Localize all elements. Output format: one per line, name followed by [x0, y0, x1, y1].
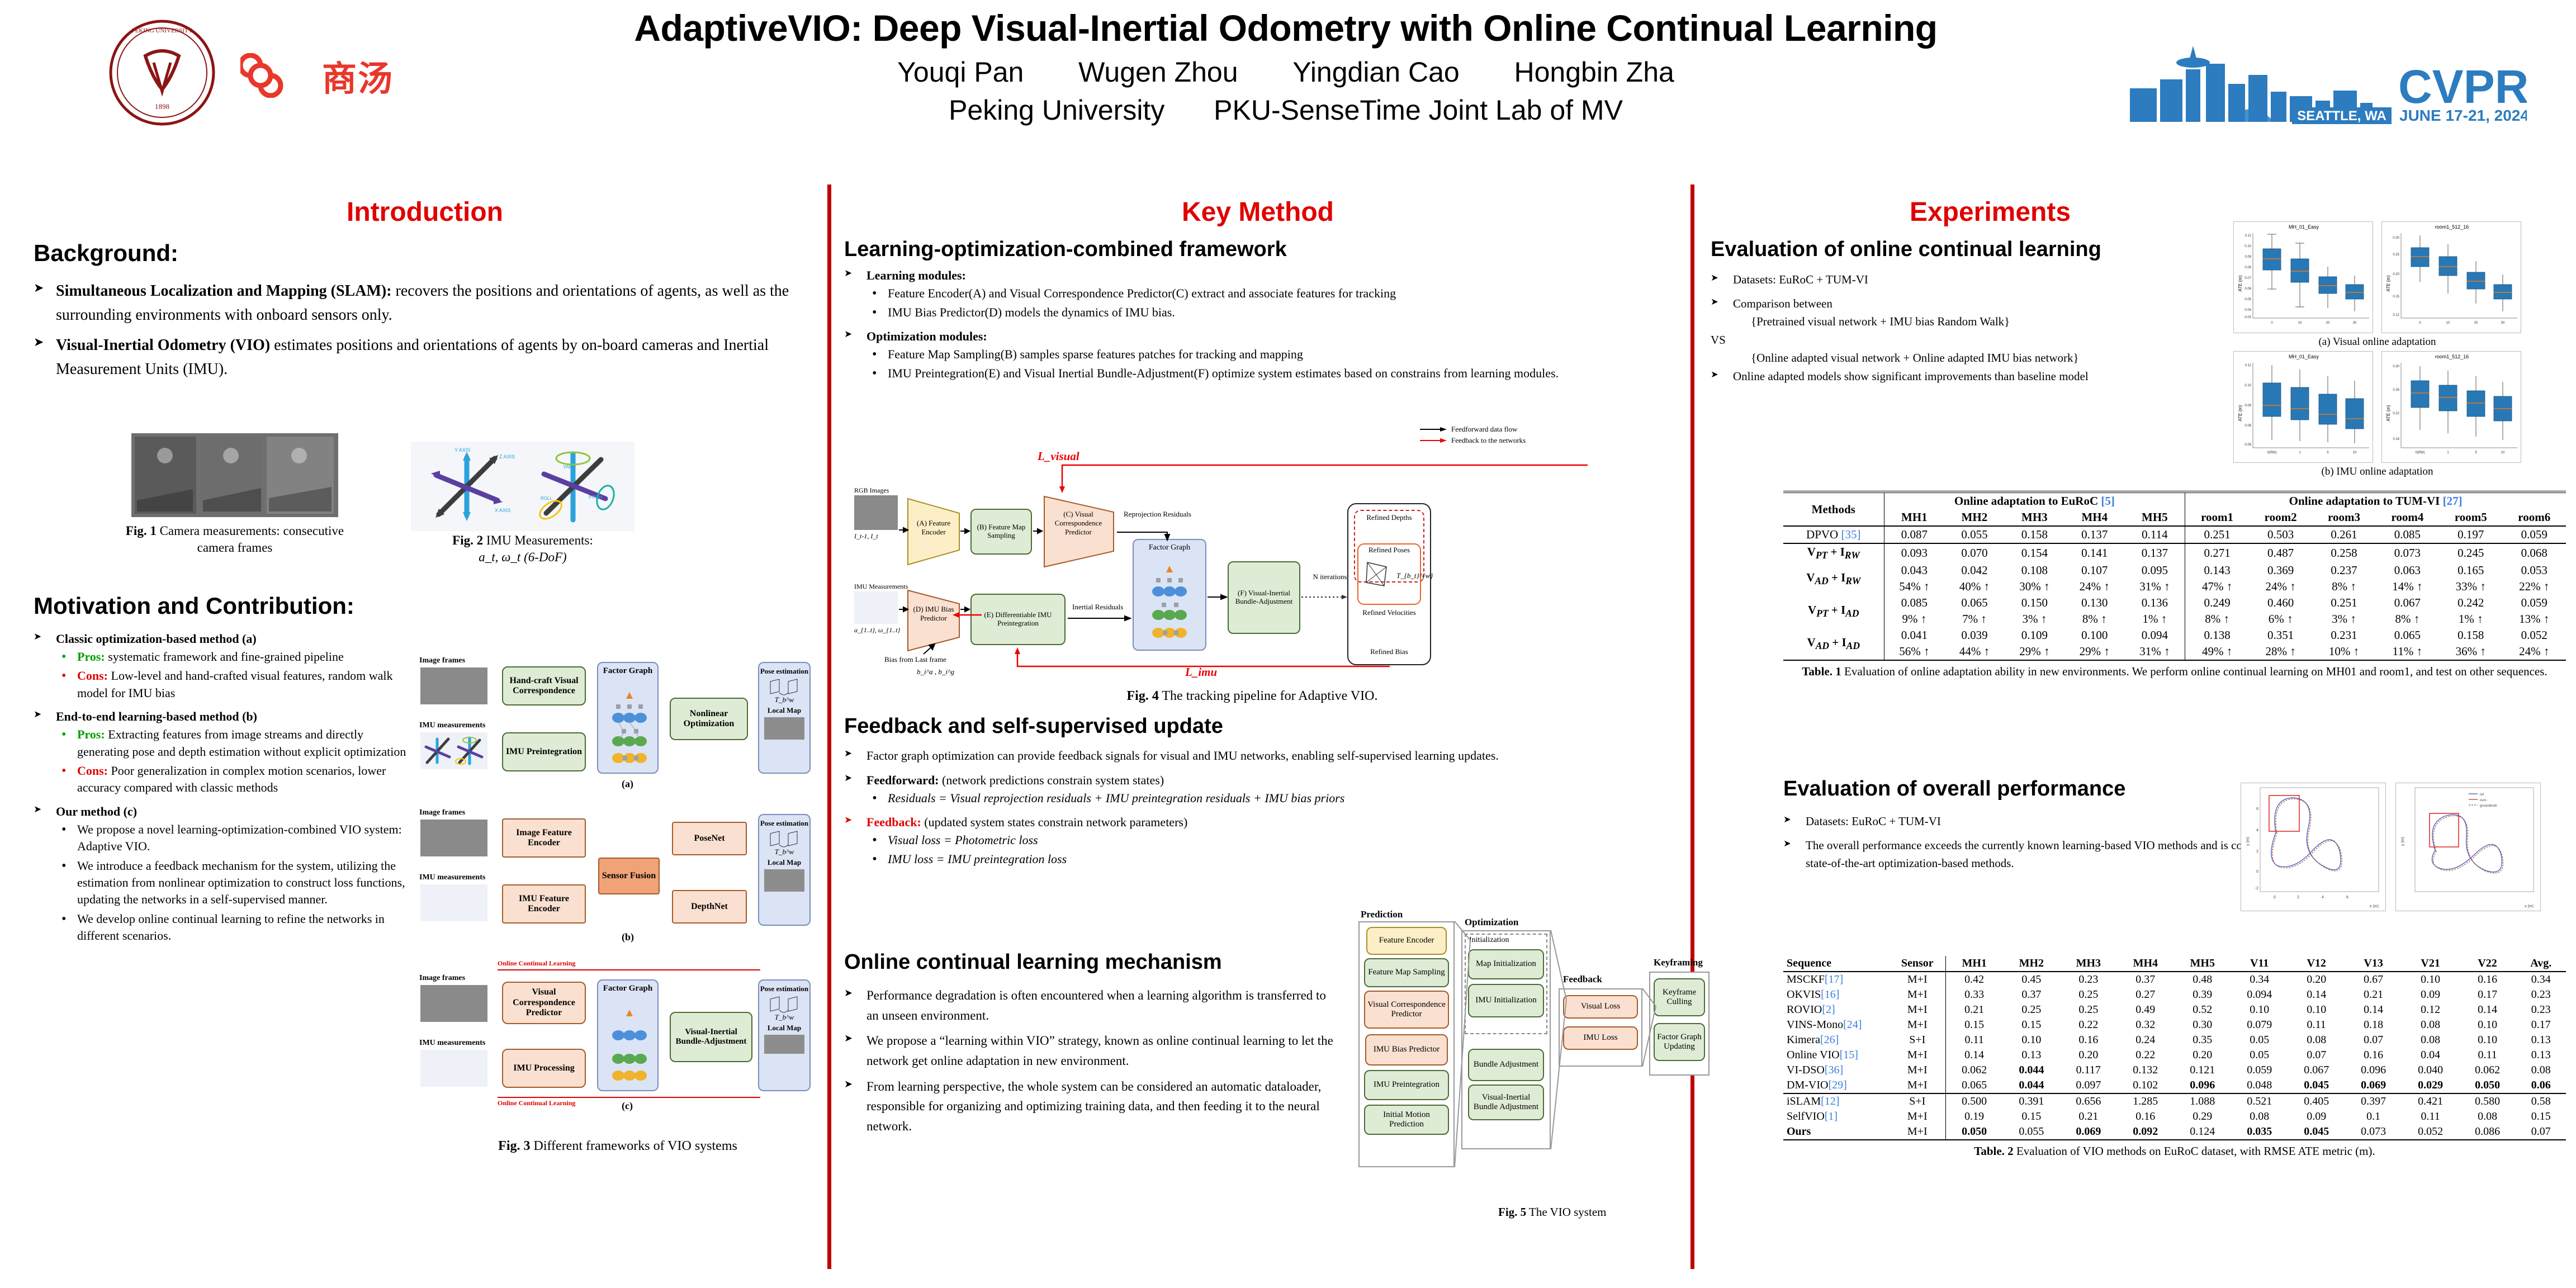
cell: 0.150 — [2005, 595, 2064, 611]
list-item: We introduce a feedback mechanism for th… — [56, 858, 414, 908]
background-heading: Background: — [34, 240, 816, 267]
boxplot-caption-b: (b) IMU online adaptation — [2233, 465, 2521, 479]
table2-row-name: Online VIO[15] — [1783, 1048, 1890, 1063]
table2-sensor: M+I — [1890, 972, 1945, 987]
table2-col-6: MH5 — [2174, 956, 2231, 972]
svg-text:ATE (m): ATE (m) — [2238, 405, 2243, 422]
cell: 0.039 — [1944, 627, 2004, 643]
table-row: VI-DSO[36]M+I0.0620.0440.1170.1320.1210.… — [1783, 1063, 2566, 1078]
t1r2-a: V — [1806, 571, 1815, 584]
cell: 14% ↑ — [2376, 579, 2439, 595]
svg-text:6: 6 — [2346, 896, 2348, 899]
list-item: Datasets: EuRoC + TUM-VI — [1711, 271, 2214, 289]
exp-s1-4: {Online adapted visual network + Online … — [1751, 351, 2079, 364]
author-list: Youqi Pan Wugen Zhou Yingdian Cao Hongbi… — [503, 56, 2068, 88]
cell: 0.503 — [2249, 526, 2312, 543]
method-sublist: Feature Map Sampling(B) samples sparse f… — [866, 346, 1671, 382]
table2-sensor: M+I — [1890, 1063, 1945, 1078]
fig4-caption: Fig. 4 The tracking pipeline for Adaptiv… — [1017, 688, 1487, 705]
cell: 0.10 — [2402, 972, 2459, 987]
table1-col-4: MH5 — [2125, 509, 2185, 526]
t1-row4-label: VPT + IAD — [1783, 595, 1884, 627]
table-row: VINS-Mono[24]M+I0.150.150.220.320.300.07… — [1783, 1017, 2566, 1033]
table-row: DM-VIO[29]M+I0.0650.0440.0970.1020.0960.… — [1783, 1078, 2566, 1093]
cell: 0.500 — [1945, 1093, 2003, 1109]
exp-s1-list: Datasets: EuRoC + TUM-VI Comparison betw… — [1711, 271, 2214, 385]
cell: 0.58 — [2516, 1093, 2566, 1109]
table2-sensor: M+I — [1890, 1002, 1945, 1017]
method-sublist: Visual loss = Photometric loss IMU loss … — [866, 832, 1666, 868]
mot-0-head: Classic optimization-based method (a) — [56, 632, 257, 646]
table2-row-name: Ours — [1783, 1124, 1890, 1140]
cell: 0.14 — [2345, 1002, 2402, 1017]
cell: 0.23 — [2060, 972, 2117, 987]
cell: 0.33 — [1945, 987, 2003, 1002]
fig5-connectors — [1358, 917, 1727, 1180]
cell: 0.137 — [2064, 526, 2124, 543]
cell: 29% ↑ — [2005, 643, 2064, 660]
cell: 0.062 — [2459, 1063, 2516, 1078]
exp-s1-5: Online adapted models show significant i… — [1733, 370, 2089, 383]
cell: 0.37 — [2003, 987, 2060, 1002]
cell: 0.18 — [2345, 1017, 2402, 1033]
cell: 0.231 — [2312, 627, 2375, 643]
method-s1-list: Learning modules: Feature Encoder(A) and… — [844, 266, 1671, 382]
cell: 0.16 — [2345, 1048, 2402, 1063]
cell: 0.050 — [1945, 1124, 2003, 1140]
cell: 8% ↑ — [2376, 611, 2439, 627]
cell: 0.137 — [2125, 543, 2185, 562]
exp-s1-0: Datasets: EuRoC + TUM-VI — [1733, 273, 1868, 286]
bg-item-1-lead: Visual-Inertial Odometry (VIO) — [56, 337, 270, 354]
table2-col-5: MH4 — [2117, 956, 2174, 972]
m-s1-0-sub-0: Feature Encoder(A) and Visual Correspond… — [888, 286, 1396, 300]
svg-text:x (m): x (m) — [2370, 905, 2379, 908]
svg-text:x (m): x (m) — [2525, 905, 2534, 908]
cell: 0.521 — [2231, 1093, 2288, 1109]
cell: 0.37 — [2117, 972, 2174, 987]
m-s3-0: Performance degradation is often encount… — [866, 988, 1326, 1022]
cell: 3% ↑ — [2312, 611, 2375, 627]
cell: 0.143 — [2185, 562, 2249, 579]
motivation-list: Classic optimization-based method (a) Pr… — [34, 629, 414, 944]
t1r1-sa: PT — [1816, 550, 1827, 561]
author-2: Yingdian Cao — [1292, 56, 1459, 88]
cell: 0.10 — [2003, 1033, 2060, 1048]
cell: 0.05 — [2231, 1033, 2288, 1048]
svg-text:5: 5 — [2327, 451, 2329, 454]
cell: 0.05 — [2231, 1048, 2288, 1063]
table1-col-8: room4 — [2376, 509, 2439, 526]
table-row: DPVO [35] 0.087 0.055 0.158 0.137 0.114 … — [1783, 526, 2566, 543]
cell: 0.073 — [2345, 1124, 2402, 1140]
exp-s2-0: Datasets: EuRoC + TUM-VI — [1806, 815, 1941, 828]
experiments-title: Experiments — [1711, 197, 2270, 228]
poster-root: 1898 PEKING UNIVERSITY 商汤 AdaptiveVIO: D… — [0, 0, 2576, 1288]
list-item: Cons: Low-level and hand-crafted visual … — [56, 667, 414, 702]
cell: 0.055 — [2003, 1124, 2060, 1140]
cell: 0.048 — [2231, 1078, 2288, 1093]
cell: 0.130 — [2064, 595, 2124, 611]
table2-sensor: M+I — [1890, 1124, 1945, 1140]
fig3-c-proc: Visual-Inertial Bundle-Adjustment — [670, 1012, 752, 1062]
cell: 0.15 — [1945, 1017, 2003, 1033]
fig5-caption-label: Fig. 5 — [1498, 1205, 1526, 1219]
list-item: Pros: Extracting features from image str… — [56, 726, 414, 760]
author-0: Youqi Pan — [897, 56, 1024, 88]
cell: 0.251 — [2185, 526, 2249, 543]
page-title: AdaptiveVIO: Deep Visual-Inertial Odomet… — [503, 8, 2068, 49]
fig3-a-out-sym: T_b^w — [775, 696, 794, 704]
svg-text:0.08: 0.08 — [2244, 266, 2251, 269]
cell: 0.062 — [1945, 1063, 2003, 1078]
list-item: Simultaneous Localization and Mapping (S… — [34, 279, 816, 328]
svg-text:room1_512_16: room1_512_16 — [2435, 224, 2469, 230]
cell: 0.11 — [1945, 1033, 2003, 1048]
cell: 0.067 — [2376, 595, 2439, 611]
exp-s1-2: {Pretrained visual network + IMU bias Ra… — [1751, 315, 2010, 328]
cell: 0.08 — [2459, 1109, 2516, 1124]
svg-text:ATE (m): ATE (m) — [2386, 405, 2391, 422]
cell: 0.11 — [2288, 1017, 2345, 1033]
svg-text:0.30: 0.30 — [2393, 236, 2399, 240]
fig3-c-out-sym: T_b^w — [775, 1014, 794, 1022]
svg-text:0.18: 0.18 — [2393, 438, 2399, 441]
cell: 0.045 — [2288, 1078, 2345, 1093]
t1g0-label: Online adaptation to EuRoC — [1954, 494, 2101, 508]
cell: 24% ↑ — [2064, 579, 2124, 595]
mot-2-sub-2-text: We develop online continual learning to … — [77, 912, 385, 943]
svg-text:20: 20 — [2326, 321, 2330, 325]
mot-0-sub-1-text: Low-level and hand-crafted visual featur… — [77, 669, 392, 699]
svg-text:6: 6 — [2256, 807, 2258, 811]
cell: 0.21 — [1945, 1002, 2003, 1017]
cell: 0.107 — [2064, 562, 2124, 579]
motivation-sublist: Pros: Extracting features from image str… — [56, 726, 414, 796]
svg-text:0.09: 0.09 — [2244, 255, 2251, 259]
intro-column: Introduction Background: Simultaneous Lo… — [34, 197, 816, 387]
cvpr-dates: JUNE 17-21, 2024 — [2399, 107, 2527, 124]
cell: 0.13 — [2003, 1048, 2060, 1063]
cell: 0.158 — [2005, 526, 2064, 543]
bg-item-0-lead: Simultaneous Localization and Mapping (S… — [56, 282, 392, 300]
cell: 24% ↑ — [2503, 643, 2566, 660]
cell: 0.16 — [2060, 1033, 2117, 1048]
table1: Methods Online adaptation to EuRoC [5] O… — [1783, 491, 2566, 661]
fig3-a-out-bot: Local Map — [768, 707, 801, 715]
svg-text:0.03: 0.03 — [2244, 316, 2251, 319]
cell: 3% ↑ — [2005, 611, 2064, 627]
author-3: Hongbin Zha — [1514, 56, 1674, 88]
t1r0-ref: [35] — [1841, 528, 1860, 541]
m-s1-0-sub-1: IMU Bias Predictor(D) models the dynamic… — [888, 305, 1175, 319]
citation-ref: [12] — [1821, 1095, 1839, 1107]
fig1-image — [131, 433, 338, 517]
cell: 0.08 — [2402, 1017, 2459, 1033]
cell: 0.09 — [2288, 1109, 2345, 1124]
cvpr-location: SEATTLE, WA — [2297, 108, 2386, 124]
fig3-b-input-1: IMU measurements — [419, 873, 485, 882]
cell: 0.52 — [2174, 1002, 2231, 1017]
table1-col-0: MH1 — [1884, 509, 1944, 526]
exp-s1-1: Comparison between — [1733, 297, 1832, 310]
list-item: Residuals = Visual reprojection residual… — [866, 790, 1666, 807]
mot-0-sub-0-label: Pros: — [77, 650, 105, 664]
mot-1-sub-0-text: Extracting features from image streams a… — [77, 727, 406, 758]
cell: 0.121 — [2174, 1063, 2231, 1078]
svg-text:-2: -2 — [2255, 887, 2258, 891]
m-s2-2-sub-0: Visual loss = Photometric loss — [888, 833, 1038, 847]
table1-body: DPVO [35] 0.087 0.055 0.158 0.137 0.114 … — [1783, 526, 2566, 660]
mot-1-head: End-to-end learning-based method (b) — [56, 709, 257, 723]
cell: 0.397 — [2345, 1093, 2402, 1109]
cell: 0.656 — [2060, 1093, 2117, 1109]
t1r6-b: + I — [1829, 636, 1846, 649]
list-item: Learning modules: Feature Encoder(A) and… — [844, 266, 1671, 321]
cell: 0.158 — [2439, 627, 2502, 643]
table2-caption-text: Evaluation of VIO methods on EuRoC datas… — [2014, 1144, 2375, 1158]
cell: 0.197 — [2439, 526, 2502, 543]
table2-sensor: M+I — [1890, 1017, 1945, 1033]
t1r0-name: DPVO — [1806, 528, 1841, 541]
svg-text:0(RW): 0(RW) — [2415, 451, 2425, 454]
fig3-c-block-0: Visual Correspondence Predictor — [502, 982, 586, 1024]
svg-text:0.05: 0.05 — [2244, 298, 2251, 301]
svg-text:ours: ours — [2480, 799, 2487, 802]
svg-text:y (m): y (m) — [2401, 837, 2405, 846]
cell: 0.249 — [2185, 595, 2249, 611]
fig3-a-out-top: Pose estimation — [760, 667, 808, 676]
fig4-connectors — [850, 425, 1655, 693]
table1-col-9: room5 — [2439, 509, 2502, 526]
cell: 40% ↑ — [1944, 579, 2004, 595]
table2-caption: Table. 2 Evaluation of VIO methods on Eu… — [1783, 1144, 2566, 1159]
method-s3-list: Performance degradation is often encount… — [844, 986, 1336, 1136]
table2-col-2: MH1 — [1945, 956, 2003, 972]
poster-header: 1898 PEKING UNIVERSITY 商汤 AdaptiveVIO: D… — [0, 0, 2576, 168]
cell: 0.097 — [2060, 1078, 2117, 1093]
table-row: Methods Online adaptation to EuRoC [5] O… — [1783, 492, 2566, 509]
t1r6-sb: AD — [1846, 640, 1860, 651]
cell: 0.136 — [2125, 595, 2185, 611]
t1-row0-label: DPVO [35] — [1783, 526, 1884, 543]
fig3-caption: Fig. 3 Different frameworks of VIO syste… — [425, 1138, 811, 1155]
fig3-a-image-frames — [420, 667, 487, 704]
list-item: We develop online continual learning to … — [56, 911, 414, 945]
list-item: Visual loss = Photometric loss — [866, 832, 1666, 849]
cell: 0.20 — [2174, 1048, 2231, 1063]
t1r2-b: + I — [1829, 571, 1846, 584]
fig3-b-input-0: Image frames — [419, 808, 465, 817]
cell: 22% ↑ — [2503, 579, 2566, 595]
svg-text:0.15: 0.15 — [2393, 295, 2399, 299]
cell: 0.044 — [2003, 1063, 2060, 1078]
table-row: VPT + IRW 0.093 0.070 0.154 0.141 0.137 … — [1783, 543, 2566, 562]
cell: 0.165 — [2439, 562, 2502, 579]
list-item: Feature Encoder(A) and Visual Correspond… — [866, 285, 1671, 302]
t1r6-a: V — [1807, 636, 1816, 649]
mot-1-sub-1-label: Cons: — [77, 764, 108, 778]
table-row: MSCKF[17]M+I0.420.450.230.370.480.340.20… — [1783, 972, 2566, 987]
fig2-caption: Fig. 2 IMU Measurements: a_t, ω_t (6-DoF… — [414, 532, 632, 566]
table2-caption-label: Table. 2 — [1974, 1144, 2013, 1158]
sensetime-mark-icon — [240, 53, 313, 98]
cell: 10% ↑ — [2312, 643, 2375, 660]
svg-text:0(RW): 0(RW) — [2267, 451, 2276, 454]
cell: 30% ↑ — [2005, 579, 2064, 595]
fig2-caption-text: IMU Measurements: — [483, 533, 593, 547]
table2-row-name: ROVIO[2] — [1783, 1002, 1890, 1017]
peking-university-logo: 1898 PEKING UNIVERSITY — [106, 17, 218, 129]
fig2-image: Y AXIS Z AXIS X AXIS YAW ROLL PITCH — [411, 442, 634, 531]
cell: 0.096 — [2345, 1063, 2402, 1078]
boxplot-caption-a: (a) Visual online adaptation — [2233, 335, 2521, 349]
method-s2-heading: Feedback and self-supervised update — [844, 714, 1666, 738]
fig4-caption-label: Fig. 4 — [1126, 689, 1158, 703]
svg-text:Y AXIS: Y AXIS — [454, 447, 470, 453]
cell: 0.059 — [2503, 526, 2566, 543]
cell: 0.086 — [2459, 1124, 2516, 1140]
cell: 0.041 — [1884, 627, 1944, 643]
cell: 0.45 — [2003, 972, 2060, 987]
t1r4-sa: PT — [1816, 608, 1828, 619]
cell: 0.13 — [2516, 1033, 2566, 1048]
fig3-c-input-1: IMU measurements — [419, 1039, 485, 1048]
cell: 24% ↑ — [2249, 579, 2312, 595]
boxplot-0: MH_01_Easy ATE (m) 0.110.100.09 0.080.07… — [2233, 221, 2373, 333]
cell: 56% ↑ — [1884, 643, 1944, 660]
list-item: Feedforward: (network predictions constr… — [844, 771, 1666, 807]
t1r1-a: V — [1807, 545, 1816, 558]
list-item: Classic optimization-based method (a) Pr… — [34, 629, 414, 702]
svg-text:2: 2 — [2256, 850, 2258, 854]
cell: 1% ↑ — [2125, 611, 2185, 627]
cell: 6% ↑ — [2249, 611, 2312, 627]
table-row: ROVIO[2]M+I0.210.250.250.490.520.100.100… — [1783, 1002, 2566, 1017]
cell: 0.10 — [2459, 1017, 2516, 1033]
citation-ref: [36] — [1825, 1064, 1843, 1076]
cell: 1.285 — [2117, 1093, 2174, 1109]
cell: 0.10 — [2231, 1002, 2288, 1017]
method-name: Ours — [1787, 1125, 1811, 1138]
svg-text:0.10: 0.10 — [2244, 384, 2251, 387]
cell: 0.052 — [2402, 1124, 2459, 1140]
cell: 0.21 — [2345, 987, 2402, 1002]
t1g0-ref: [5] — [2101, 494, 2115, 508]
intro-title: Introduction — [34, 197, 816, 228]
svg-text:MH_01_Easy: MH_01_Easy — [2289, 354, 2319, 359]
method-name: ROVIO — [1787, 1003, 1822, 1016]
citation-ref: [29] — [1828, 1079, 1846, 1091]
fig3-c-output: Pose estimation T_b^w Local Map — [758, 979, 811, 1091]
method-s2-block: Feedback and self-supervised update Fact… — [844, 714, 1666, 873]
cell: 0.258 — [2312, 543, 2375, 562]
exp-s1-2-wrap: {Pretrained visual network + IMU bias Ra… — [1711, 312, 2214, 331]
cell: 0.10 — [2288, 1002, 2345, 1017]
cell: 0.108 — [2005, 562, 2064, 579]
table2-sensor: S+I — [1890, 1033, 1945, 1048]
t1-row1-label: VPT + IRW — [1783, 543, 1884, 562]
svg-text:0.12: 0.12 — [2393, 314, 2399, 317]
list-item: Our method (c) We propose a novel learni… — [34, 802, 414, 945]
affiliation-list: Peking University PKU-SenseTime Joint La… — [503, 94, 2068, 126]
method-s3-block: Online continual learning mechanism Perf… — [844, 950, 1336, 1142]
cell: 0.27 — [2117, 987, 2174, 1002]
table2-col-0: Sequence — [1783, 956, 1890, 972]
m-s1-0-head: Learning modules: — [866, 268, 966, 282]
cell: 13% ↑ — [2503, 611, 2566, 627]
cell: 0.42 — [1945, 972, 2003, 987]
fig3-a-output: Pose estimation T_b^w Local Map — [758, 662, 811, 774]
cell: 0.065 — [1944, 595, 2004, 611]
table2-col-3: MH2 — [2003, 956, 2060, 972]
table-row: OKVIS[16]M+I0.330.370.250.270.390.0940.1… — [1783, 987, 2566, 1002]
mot-1-sub-0-label: Pros: — [77, 727, 105, 741]
citation-ref: [15] — [1840, 1049, 1858, 1061]
t1-row2-label: VAD + IRW — [1783, 562, 1884, 595]
fig1-caption-text: Camera measurements: consecutive camera … — [157, 524, 344, 555]
m-s2-1-text: (network predictions constrain system st… — [939, 773, 1164, 787]
table2-wrapper: Sequence Sensor MH1 MH2 MH3 MH4 MH5 V11 … — [1783, 956, 2566, 1159]
cell: 0.17 — [2459, 987, 2516, 1002]
svg-text:Z AXIS: Z AXIS — [499, 454, 515, 460]
table-row: SelfVIO[1]M+I0.190.150.210.160.290.080.0… — [1783, 1109, 2566, 1124]
fig3-b-imu-image — [420, 884, 487, 921]
method-name: iSLAM — [1787, 1095, 1821, 1107]
affiliation-0: Peking University — [949, 94, 1164, 126]
fig3-b-depthnet: DepthNet — [672, 890, 747, 924]
svg-text:4: 4 — [2256, 828, 2258, 832]
fig3-c-ocl-line-bot — [498, 1097, 760, 1098]
method-s2-list: Factor graph optimization can provide fe… — [844, 746, 1666, 868]
cell: 0.043 — [1884, 562, 1944, 579]
table2-row-name: VINS-Mono[24] — [1783, 1017, 1890, 1033]
cell: 31% ↑ — [2125, 643, 2185, 660]
m-s2-2-text: (updated system states constrain network… — [921, 815, 1188, 829]
cell: 0.23 — [2516, 1002, 2566, 1017]
motivation-sublist: Pros: systematic framework and fine-grai… — [56, 648, 414, 702]
svg-text:0.22: 0.22 — [2393, 412, 2399, 415]
cell: 0.069 — [2345, 1078, 2402, 1093]
table-row: Kimera[26]S+I0.110.100.160.240.350.050.0… — [1783, 1033, 2566, 1048]
table1-col-3: MH4 — [2064, 509, 2124, 526]
citation-ref: [17] — [1825, 973, 1843, 986]
cell: 0.369 — [2249, 562, 2312, 579]
fig3-c-imu-image — [420, 1050, 487, 1087]
cell: 0.242 — [2439, 595, 2502, 611]
trajectory-plot-0: y (m) x (m) 6420-2 0246 — [2241, 783, 2386, 911]
cell: 0.261 — [2312, 526, 2375, 543]
m-s1-1-sub-0: Feature Map Sampling(B) samples sparse f… — [888, 347, 1303, 361]
exp-s1-3: VS — [1711, 333, 1726, 347]
t1r4-b: + I — [1829, 603, 1846, 617]
cell: 0.34 — [2516, 972, 2566, 987]
svg-text:30: 30 — [2501, 321, 2505, 325]
citation-ref: [26] — [1820, 1034, 1839, 1046]
cell: 0.22 — [2117, 1048, 2174, 1063]
table1-methods-header: Methods — [1783, 492, 1884, 526]
table2-head: Sequence Sensor MH1 MH2 MH3 MH4 MH5 V11 … — [1783, 956, 2566, 972]
svg-text:0.25: 0.25 — [2393, 253, 2399, 257]
table-row: VAD + IRW 0.043 0.042 0.108 0.107 0.095 … — [1783, 562, 2566, 579]
fig3-b-fusion: Sensor Fusion — [598, 858, 660, 894]
cell: 0.07 — [2516, 1124, 2566, 1140]
cell: 0.045 — [2288, 1124, 2345, 1140]
column-divider-1 — [827, 184, 831, 1269]
t1g1-label: Online adaptation to TUM-VI — [2289, 494, 2443, 508]
cell: 0.11 — [2459, 1048, 2516, 1063]
fig3-c-image-frames — [420, 985, 487, 1022]
